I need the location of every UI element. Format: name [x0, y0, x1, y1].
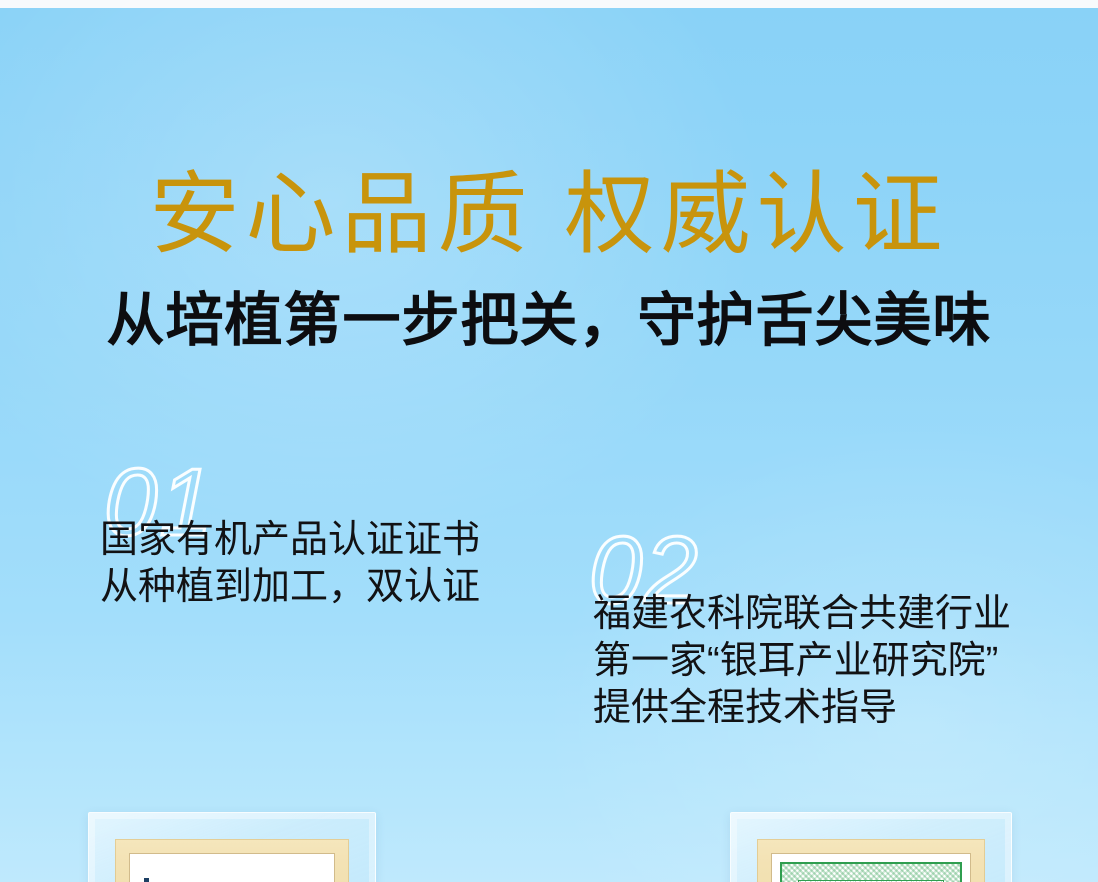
- certificate-mat-inner: 此为证书 CN21/00004 的 译本 本证书 SGS: [129, 853, 335, 882]
- feature-02-line-1: 福建农科院联合共建行业: [593, 591, 1011, 638]
- feature-02-line-2: 第一家“银耳产业研究院”: [593, 638, 1011, 685]
- feature-02-line-3: 提供全程技术指导: [593, 685, 1011, 732]
- top-white-strip: [0, 0, 1098, 8]
- feature-text-01: 国家有机产品认证证书 从种植到加工，双认证: [100, 517, 480, 611]
- feature-01-line-2: 从种植到加工，双认证: [100, 564, 480, 611]
- certificate-paper: 此为证书 CN21/00004 的 译本 本证书 SGS: [134, 858, 330, 882]
- page-headline: 安心品质 权威认证: [0, 170, 1098, 260]
- certificate-mat: 证 书: [757, 839, 985, 882]
- feature-block-02: 02 福建农科院联合共建行业 第一家“银耳产业研究院” 提供全程技术指导: [585, 523, 1045, 748]
- certificate-accent-bar: [144, 878, 149, 882]
- feature-text-02: 福建农科院联合共建行业 第一家“银耳产业研究院” 提供全程技术指导: [593, 591, 1011, 732]
- certificate-paper: 证 书: [776, 858, 966, 882]
- promo-page: 安心品质 权威认证 从培植第一步把关，守护舌尖美味 01 国家有机产品认证证书 …: [0, 0, 1098, 882]
- certificate-green-border-outer: [780, 862, 962, 882]
- feature-01-line-1: 国家有机产品认证证书: [100, 517, 480, 564]
- feature-block-01: 01 国家有机产品认证证书 从种植到加工，双认证: [100, 455, 530, 605]
- certificate-research-institute[interactable]: 证 书: [730, 812, 1012, 882]
- certificate-mat-inner: 证 书: [771, 853, 971, 882]
- certificate-mat: 此为证书 CN21/00004 的 译本 本证书 SGS: [115, 839, 349, 882]
- background-gradient: [0, 8, 1098, 882]
- page-subheadline: 从培植第一步把关，守护舌尖美味: [0, 292, 1098, 350]
- certificate-organic-sgs[interactable]: 此为证书 CN21/00004 的 译本 本证书 SGS: [88, 812, 376, 882]
